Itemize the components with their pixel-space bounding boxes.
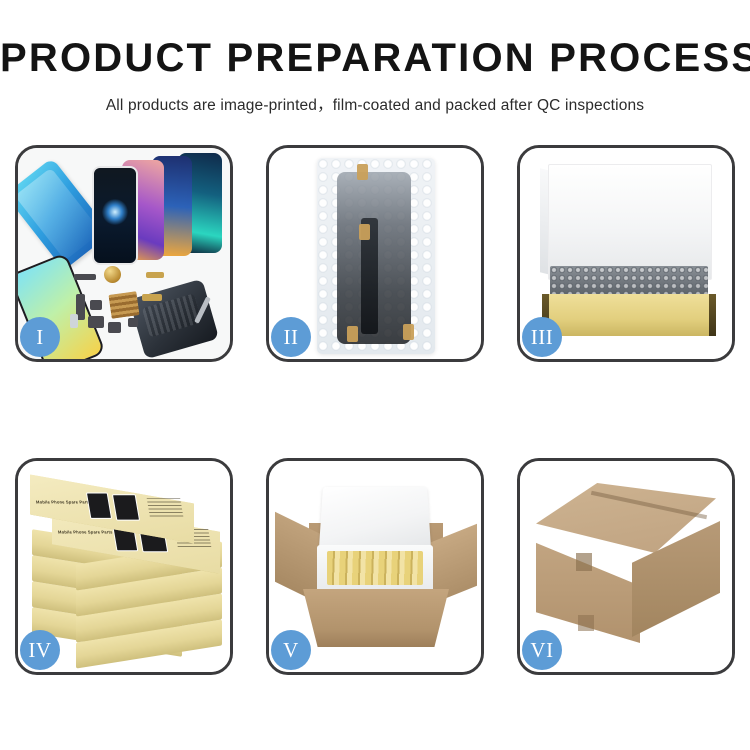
grey-bubble-padding-graphic xyxy=(550,266,708,296)
page-subtitle: All products are image-printed，film-coat… xyxy=(0,93,750,115)
gold-disc-part-graphic xyxy=(104,266,121,283)
step-badge-3: III xyxy=(522,317,562,357)
part-button-graphic xyxy=(128,318,138,327)
process-step-panel-2[interactable]: II xyxy=(266,145,484,362)
step-badge-2: II xyxy=(271,317,311,357)
part-connector-graphic xyxy=(70,314,78,328)
box-spec-text-block xyxy=(147,498,184,516)
part-speaker-graphic xyxy=(108,322,121,333)
part-flex-gold-graphic xyxy=(146,272,164,278)
foam-box-lid-graphic xyxy=(319,487,431,550)
kraft-inner-box-graphic xyxy=(542,294,716,336)
carton-tape-graphic xyxy=(578,615,594,631)
process-step-panel-6[interactable]: VI xyxy=(517,458,735,675)
process-step-panel-1[interactable]: I xyxy=(15,145,233,362)
part-chip-graphic xyxy=(74,274,96,280)
step-badge-4: IV xyxy=(20,630,60,670)
step-3-image: III xyxy=(520,148,732,359)
retail-box-label: Mobile Phone Spare Parts xyxy=(58,529,113,534)
phone-front-screen-graphic xyxy=(92,166,138,265)
process-step-panel-5[interactable]: V xyxy=(266,458,484,675)
step-4-image: Mobile Phone Spare Parts Mobile Phone Sp… xyxy=(18,461,230,672)
logic-board-part-graphic xyxy=(108,291,139,319)
tape-strip-graphic xyxy=(347,326,358,342)
step-2-image: II xyxy=(269,148,481,359)
foam-lid-graphic xyxy=(548,164,712,280)
step-badge-5: V xyxy=(271,630,311,670)
part-camera-graphic xyxy=(88,316,104,328)
phone-back-housing-graphic xyxy=(129,279,219,359)
tape-strip-graphic xyxy=(359,224,370,240)
carton-front-wall-graphic xyxy=(303,589,449,647)
tape-strip-graphic xyxy=(403,324,414,340)
tape-strip-graphic xyxy=(357,164,368,180)
part-module-graphic xyxy=(90,300,102,310)
process-step-panel-3[interactable]: III xyxy=(517,145,735,362)
retail-box-label: Mobile Phone Spare Parts xyxy=(36,500,91,505)
box-window-graphic xyxy=(86,493,112,519)
box-window-graphic xyxy=(112,494,140,520)
page-header: PRODUCT PREPARATION PROCESS All products… xyxy=(0,0,750,115)
step-5-image: V xyxy=(269,461,481,672)
bubble-wrap-graphic xyxy=(317,158,435,354)
carton-tape-graphic xyxy=(576,553,592,571)
yellow-boxes-inside-graphic xyxy=(327,551,423,585)
process-step-panel-4[interactable]: Mobile Phone Spare Parts Mobile Phone Sp… xyxy=(15,458,233,675)
process-step-grid: I II III xyxy=(15,145,735,675)
page-title: PRODUCT PREPARATION PROCESS xyxy=(0,36,750,80)
step-badge-6: VI xyxy=(522,630,562,670)
step-6-image: VI xyxy=(520,461,732,672)
step-badge-1: I xyxy=(20,317,60,357)
step-1-image: I xyxy=(18,148,230,359)
part-ribbon-graphic xyxy=(142,294,162,301)
